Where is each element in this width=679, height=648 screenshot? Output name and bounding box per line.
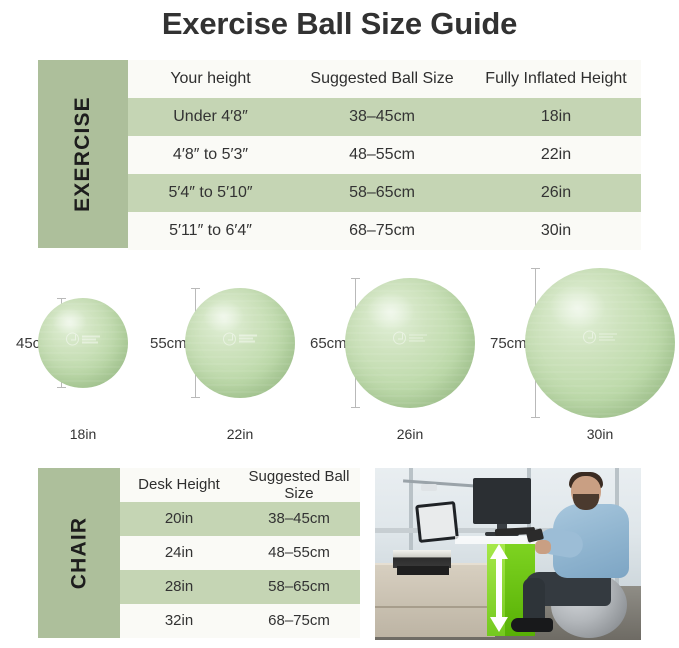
ball-caption-26in: 26in (345, 426, 475, 442)
exercise-cell-inflated-height: 18in (471, 108, 641, 126)
table-row: 28in 58–65cm (120, 570, 360, 604)
chair-header-ball-size: Suggested Ball Size (238, 468, 360, 503)
chair-cell-ball-size: 48–55cm (238, 544, 360, 561)
ball-caption-18in: 18in (38, 426, 128, 442)
table-row: 4′8″ to 5′3″ 48–55cm 22in (128, 136, 641, 174)
chair-header-desk-height: Desk Height (120, 476, 238, 493)
exercise-cell-inflated-height: 26in (471, 184, 641, 202)
exercise-cell-ball-size: 38–45cm (293, 108, 471, 126)
table-row: 20in 38–45cm (120, 502, 360, 536)
exercise-side-tab: EXERCISE (38, 60, 128, 248)
chair-side-tab-label: CHAIR (67, 517, 91, 590)
exercise-header-inflated-height: Fully Inflated Height (471, 70, 641, 88)
photo-person-shoe (511, 618, 553, 632)
exercise-ball-75cm (525, 268, 675, 418)
table-row: 32in 68–75cm (120, 604, 360, 638)
chair-grid: Desk Height Suggested Ball Size 20in 38–… (120, 468, 360, 638)
ball-dimension-label: 75cm (488, 334, 529, 353)
ball-caption-22in: 22in (185, 426, 295, 442)
photo-person-hand (535, 540, 551, 554)
table-row: 5′11″ to 6′4″ 68–75cm 30in (128, 212, 641, 250)
photo-desk-lamp-head (421, 484, 437, 491)
exercise-ball-55cm (185, 288, 295, 398)
chair-cell-desk-height: 28in (120, 578, 238, 595)
chair-cell-desk-height: 24in (120, 544, 238, 561)
brand-logo-icon (66, 333, 100, 346)
exercise-ball-65cm (345, 278, 475, 408)
table-row: Under 4′8″ 38–45cm 18in (128, 98, 641, 136)
chair-cell-ball-size: 68–75cm (238, 612, 360, 629)
chair-cell-ball-size: 58–65cm (238, 578, 360, 595)
chair-cell-desk-height: 20in (120, 510, 238, 527)
exercise-header-row: Your height Suggested Ball Size Fully In… (128, 60, 641, 98)
table-row: 24in 48–55cm (120, 536, 360, 570)
page-title: Exercise Ball Size Guide (0, 4, 679, 44)
ball-dimension-label: 65cm (308, 334, 349, 353)
height-adjust-arrow-icon (489, 544, 509, 632)
table-row: 5′4″ to 5′10″ 58–65cm 26in (128, 174, 641, 212)
exercise-cell-ball-size: 68–75cm (293, 222, 471, 240)
ball-size-illustrations: 45cm 18in 55cm 22in 65cm (0, 270, 679, 455)
exercise-cell-inflated-height: 30in (471, 222, 641, 240)
office-photo (375, 468, 641, 640)
chair-side-tab: CHAIR (38, 468, 120, 638)
chair-cell-ball-size: 38–45cm (238, 510, 360, 527)
exercise-header-your-height: Your height (128, 70, 293, 88)
exercise-header-ball-size: Suggested Ball Size (293, 70, 471, 88)
photo-secondary-monitor (415, 501, 459, 543)
exercise-grid: Your height Suggested Ball Size Fully In… (128, 60, 641, 250)
exercise-cell-height: 5′4″ to 5′10″ (128, 184, 293, 202)
chair-header-row: Desk Height Suggested Ball Size (120, 468, 360, 502)
exercise-cell-height: Under 4′8″ (128, 108, 293, 126)
brand-logo-icon (223, 332, 257, 345)
ball-caption-30in: 30in (525, 426, 675, 442)
exercise-cell-ball-size: 48–55cm (293, 146, 471, 164)
exercise-cell-ball-size: 58–65cm (293, 184, 471, 202)
photo-books-stack (397, 566, 449, 575)
exercise-ball-45cm (38, 298, 128, 388)
exercise-cell-height: 4′8″ to 5′3″ (128, 146, 293, 164)
photo-desk-drawer-line (375, 606, 495, 608)
exercise-side-tab-label: EXERCISE (71, 96, 95, 212)
chair-cell-desk-height: 32in (120, 612, 238, 629)
exercise-cell-height: 5′11″ to 6′4″ (128, 222, 293, 240)
exercise-cell-inflated-height: 22in (471, 146, 641, 164)
photo-monitor-screen (473, 478, 531, 524)
brand-logo-icon (393, 331, 427, 344)
ball-dimension-label: 55cm (148, 334, 189, 353)
brand-logo-icon (583, 331, 617, 344)
